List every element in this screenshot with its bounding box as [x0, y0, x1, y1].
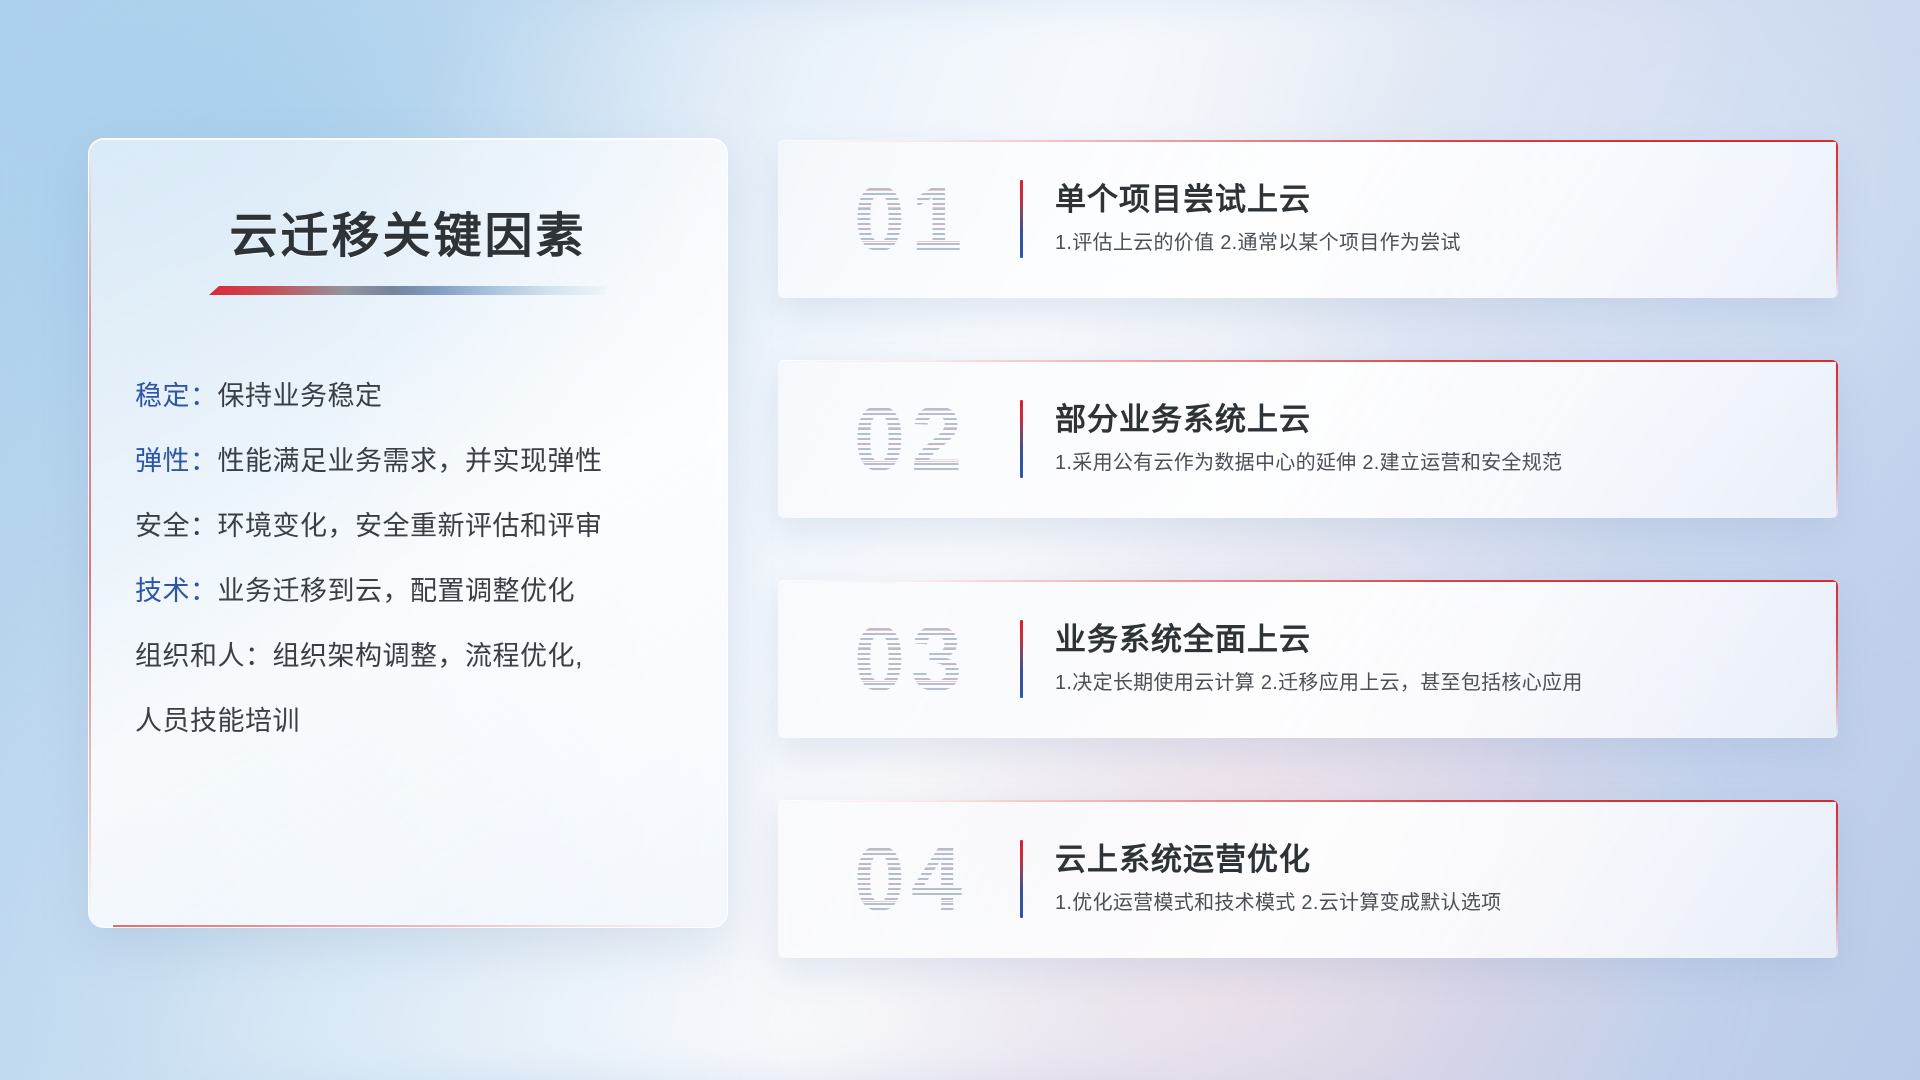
step-card[interactable]: 04云上系统运营优化1.优化运营模式和技术模式 2.云计算变成默认选项 [778, 800, 1838, 958]
step-number: 04 [802, 833, 1020, 925]
step-card[interactable]: 03业务系统全面上云1.决定长期使用云计算 2.迁移应用上云，甚至包括核心应用 [778, 580, 1838, 738]
factor-item: 稳定：保持业务稳定 [135, 383, 727, 410]
step-title: 云上系统运营优化 [1055, 843, 1812, 878]
factor-label: 安全： [135, 511, 218, 541]
page-title: 云迁移关键因素 [89, 196, 727, 266]
factor-label: 技术： [135, 576, 218, 606]
card-divider-bar [1020, 180, 1023, 258]
panel-left-accent-bar [89, 155, 91, 911]
step-subtitle: 1.决定长期使用云计算 2.迁移应用上云，甚至包括核心应用 [1055, 671, 1812, 695]
panel-bottom-accent-bar [113, 925, 721, 927]
step-number: 03 [802, 613, 1020, 705]
title-underline-gradient [209, 286, 607, 295]
card-content: 03业务系统全面上云1.决定长期使用云计算 2.迁移应用上云，甚至包括核心应用 [778, 580, 1838, 738]
step-subtitle: 1.优化运营模式和技术模式 2.云计算变成默认选项 [1055, 891, 1812, 915]
factor-text: 保持业务稳定 [218, 381, 383, 411]
factor-text: 业务迁移到云，配置调整优化 [218, 576, 576, 606]
step-title: 业务系统全面上云 [1055, 623, 1812, 658]
step-card[interactable]: 02部分业务系统上云1.采用公有云作为数据中心的延伸 2.建立运营和安全规范 [778, 360, 1838, 518]
key-factors-list: 稳定：保持业务稳定弹性：性能满足业务需求，并实现弹性安全：环境变化，安全重新评估… [135, 383, 727, 735]
factor-item: 人员技能培训 [135, 708, 727, 735]
step-title: 部分业务系统上云 [1055, 403, 1812, 438]
factor-text: 人员技能培训 [135, 706, 300, 736]
card-divider-bar [1020, 400, 1023, 478]
step-number: 02 [802, 393, 1020, 485]
factor-label: 弹性： [135, 446, 218, 476]
step-card[interactable]: 01单个项目尝试上云1.评估上云的价值 2.通常以某个项目作为尝试 [778, 140, 1838, 298]
step-title: 单个项目尝试上云 [1055, 183, 1812, 218]
factor-item: 技术：业务迁移到云，配置调整优化 [135, 578, 727, 605]
factor-text: 环境变化，安全重新评估和评审 [218, 511, 603, 541]
factor-text: 组织架构调整，流程优化, [273, 641, 584, 671]
step-number: 01 [802, 173, 1020, 265]
migration-steps-list: 01单个项目尝试上云1.评估上云的价值 2.通常以某个项目作为尝试02部分业务系… [778, 140, 1838, 958]
card-text-block: 部分业务系统上云1.采用公有云作为数据中心的延伸 2.建立运营和安全规范 [1055, 403, 1838, 476]
key-factors-panel: 云迁移关键因素 稳定：保持业务稳定弹性：性能满足业务需求，并实现弹性安全：环境变… [88, 138, 728, 928]
factor-text: 性能满足业务需求，并实现弹性 [218, 446, 603, 476]
card-content: 01单个项目尝试上云1.评估上云的价值 2.通常以某个项目作为尝试 [778, 140, 1838, 298]
factor-item: 组织和人：组织架构调整，流程优化, [135, 643, 727, 670]
step-subtitle: 1.评估上云的价值 2.通常以某个项目作为尝试 [1055, 231, 1812, 255]
slide-stage: 云迁移关键因素 稳定：保持业务稳定弹性：性能满足业务需求，并实现弹性安全：环境变… [0, 0, 1920, 1080]
card-text-block: 云上系统运营优化1.优化运营模式和技术模式 2.云计算变成默认选项 [1055, 843, 1838, 916]
card-divider-bar [1020, 840, 1023, 918]
card-text-block: 业务系统全面上云1.决定长期使用云计算 2.迁移应用上云，甚至包括核心应用 [1055, 623, 1838, 696]
card-text-block: 单个项目尝试上云1.评估上云的价值 2.通常以某个项目作为尝试 [1055, 183, 1838, 256]
factor-item: 安全：环境变化，安全重新评估和评审 [135, 513, 727, 540]
factor-item: 弹性：性能满足业务需求，并实现弹性 [135, 448, 727, 475]
step-subtitle: 1.采用公有云作为数据中心的延伸 2.建立运营和安全规范 [1055, 451, 1812, 475]
card-divider-bar [1020, 620, 1023, 698]
card-content: 02部分业务系统上云1.采用公有云作为数据中心的延伸 2.建立运营和安全规范 [778, 360, 1838, 518]
factor-label: 稳定： [135, 381, 218, 411]
factor-label: 组织和人： [135, 641, 273, 671]
card-content: 04云上系统运营优化1.优化运营模式和技术模式 2.云计算变成默认选项 [778, 800, 1838, 958]
